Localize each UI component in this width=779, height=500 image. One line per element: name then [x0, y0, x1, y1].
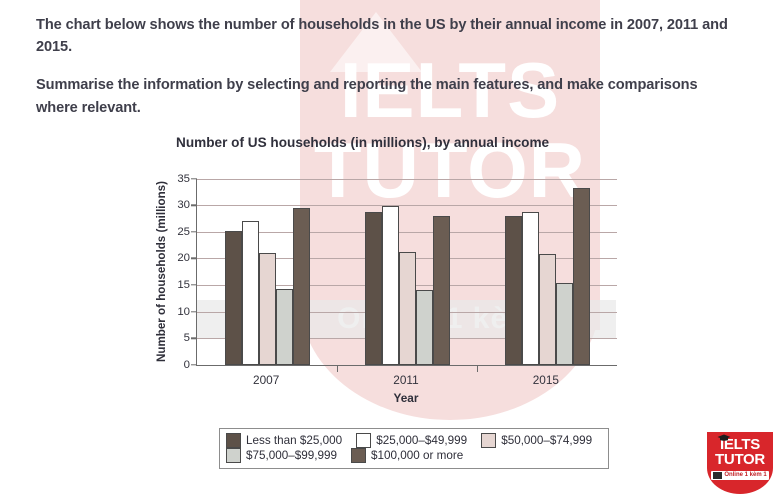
chart-legend: Less than $25,000$25,000–$49,999$50,000–…: [219, 428, 609, 469]
graduation-cap-icon: [717, 434, 731, 441]
legend-label: $100,000 or more: [371, 449, 463, 462]
y-tick-label: 30: [177, 199, 197, 211]
y-tick-label: 25: [177, 226, 197, 238]
bar: [259, 253, 276, 365]
ielts-tutor-logo[interactable]: IELTS TUTOR Online 1 kèm 1: [707, 432, 773, 494]
legend-item: Less than $25,000: [226, 433, 342, 448]
monitor-icon: [713, 472, 722, 479]
x-tick-label-2011: 2011: [393, 373, 418, 387]
task-prompt: The chart below shows the number of hous…: [0, 0, 779, 119]
bar-groups: [197, 179, 617, 365]
bar: [242, 221, 259, 364]
legend-row-bottom: $75,000–$99,999$100,000 or more: [226, 448, 602, 463]
logo-tagline-box: Online 1 kèm 1: [711, 471, 768, 480]
y-tick-label: 0: [184, 359, 197, 371]
legend-label: $75,000–$99,999: [246, 449, 337, 462]
plot-area: 05101520253035: [196, 179, 617, 366]
logo-name-bottom: TUTOR: [715, 452, 765, 468]
x-axis-separator: [477, 365, 478, 372]
x-tick-label-2007: 2007: [253, 373, 279, 387]
bar: [556, 283, 573, 364]
x-axis-tick-labels: 200720112015: [196, 373, 616, 387]
legend-item: $75,000–$99,999: [226, 448, 337, 463]
legend-row-top: Less than $25,000$25,000–$49,999$50,000–…: [226, 433, 602, 448]
legend-swatch: [226, 448, 241, 463]
x-axis-separator: [337, 365, 338, 372]
bar: [382, 206, 399, 364]
bar-group-2015: [505, 179, 590, 365]
legend-item: $50,000–$74,999: [481, 433, 592, 448]
logo-tagline: Online 1 kèm 1: [724, 472, 766, 478]
legend-label: $50,000–$74,999: [501, 434, 592, 447]
prompt-paragraph-1: The chart below shows the number of hous…: [36, 14, 739, 58]
y-tick-label: 5: [184, 332, 197, 344]
prompt-paragraph-2: Summarise the information by selecting a…: [36, 74, 739, 118]
bar: [416, 290, 433, 364]
bar-group-2011: [365, 179, 450, 365]
bar: [505, 216, 522, 365]
y-tick-label: 35: [177, 173, 197, 185]
legend-label: $25,000–$49,999: [376, 434, 467, 447]
bar: [225, 231, 242, 365]
bar: [433, 216, 450, 364]
legend-swatch: [226, 433, 241, 448]
x-axis-title: Year: [196, 391, 616, 405]
legend-item: $25,000–$49,999: [356, 433, 467, 448]
bar: [573, 188, 590, 364]
bar: [365, 212, 382, 365]
y-axis-label-text: Number of households (millions): [155, 181, 168, 362]
y-tick-label: 10: [177, 306, 197, 318]
y-axis-label: Number of households (millions): [152, 179, 170, 365]
legend-item: $100,000 or more: [351, 448, 463, 463]
y-tick-label: 15: [177, 279, 197, 291]
bar: [276, 289, 293, 365]
chart-title: Number of US households (in millions), b…: [176, 135, 646, 150]
legend-label: Less than $25,000: [246, 434, 342, 447]
bar: [293, 208, 310, 365]
x-tick-label-2015: 2015: [533, 373, 559, 387]
bar-group-2007: [225, 179, 310, 365]
y-tick-label: 20: [177, 252, 197, 264]
bar: [399, 252, 416, 365]
bar: [522, 212, 539, 365]
legend-swatch: [356, 433, 371, 448]
bar: [539, 254, 556, 365]
legend-swatch: [351, 448, 366, 463]
screenshot-page: IELTS TUTOR The chart below shows the nu…: [0, 0, 779, 500]
legend-swatch: [481, 433, 496, 448]
